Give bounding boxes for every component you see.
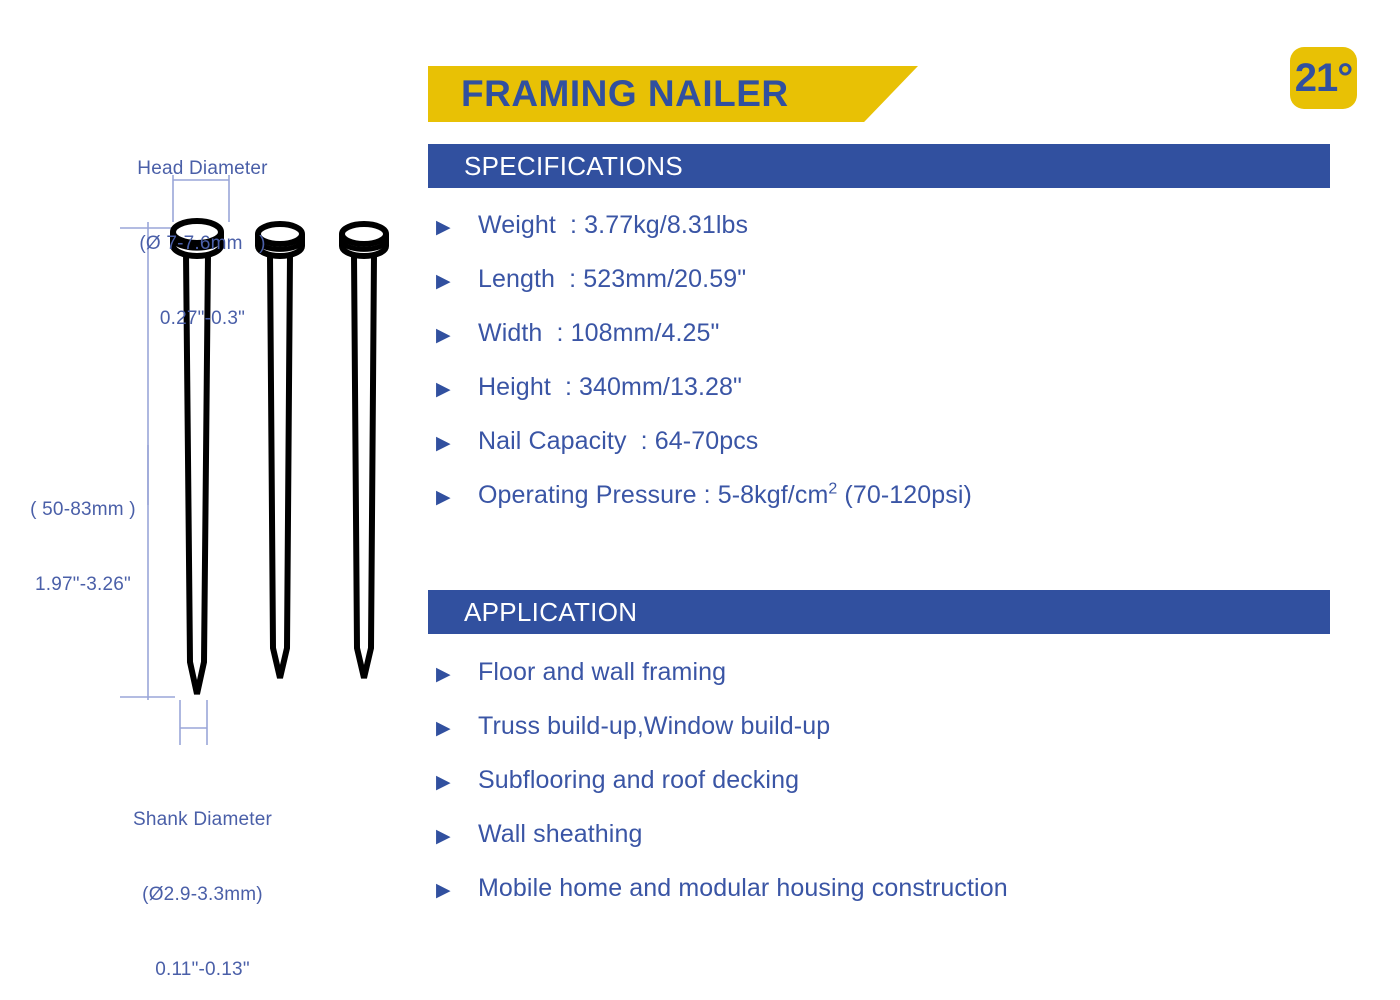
shank-diameter-line1: Shank Diameter: [95, 807, 310, 832]
head-diameter-line1: Head Diameter: [95, 156, 310, 181]
application-item: ▶ Truss build-up,Window build-up: [430, 699, 1370, 753]
application-item: ▶ Floor and wall framing: [430, 645, 1370, 699]
triangle-bullet-icon: ▶: [436, 648, 462, 702]
spec-item-label: Height : 340mm/13.28": [478, 360, 742, 414]
spec-item-label: Width : 108mm/4.25": [478, 306, 720, 360]
operating-pressure-text: Operating Pressure : 5-8kgf/cm: [478, 481, 828, 509]
spec-item-width: ▶ Width : 108mm/4.25": [430, 306, 1370, 360]
nail-dimension-diagram: Head Diameter (Ø 7-7.6mm ) 0.27"-0.3" ( …: [0, 0, 420, 1000]
application-heading: APPLICATION: [464, 597, 637, 628]
spec-item-operating-pressure: ▶ Operating Pressure : 5-8kgf/cm2 (70-12…: [430, 468, 1370, 522]
application-item: ▶ Mobile home and modular housing constr…: [430, 861, 1370, 915]
application-item: ▶ Subflooring and roof decking: [430, 753, 1370, 807]
triangle-bullet-icon: ▶: [436, 864, 462, 918]
nail-angle-badge: 21°: [1290, 47, 1357, 109]
nail-length-label: ( 50-83mm ) 1.97"-3.26": [8, 447, 158, 647]
specifications-list: ▶ Weight : 3.77kg/8.31lbs ▶ Length : 523…: [430, 198, 1370, 522]
head-diameter-line2: (Ø 7-7.6mm ): [95, 231, 310, 256]
nail-angle-value: 21°: [1295, 58, 1353, 98]
spec-item-weight: ▶ Weight : 3.77kg/8.31lbs: [430, 198, 1370, 252]
spec-item-label: Length : 523mm/20.59": [478, 252, 746, 306]
spec-item-height: ▶ Height : 340mm/13.28": [430, 360, 1370, 414]
head-diameter-label: Head Diameter (Ø 7-7.6mm ) 0.27"-0.3": [95, 106, 310, 381]
shank-diameter-label: Shank Diameter (Ø2.9-3.3mm) 0.11"-0.13": [95, 757, 310, 1000]
spec-item-length: ▶ Length : 523mm/20.59": [430, 252, 1370, 306]
application-item-label: Floor and wall framing: [478, 645, 726, 699]
triangle-bullet-icon: ▶: [436, 417, 462, 471]
nail-length-line1: ( 50-83mm ): [8, 497, 158, 522]
head-diameter-line3: 0.27"-0.3": [95, 306, 310, 331]
shank-diameter-line2: (Ø2.9-3.3mm): [95, 882, 310, 907]
shank-diameter-line3: 0.11"-0.13": [95, 957, 310, 982]
triangle-bullet-icon: ▶: [436, 201, 462, 255]
application-header-bar: APPLICATION: [428, 590, 1330, 634]
application-list: ▶ Floor and wall framing ▶ Truss build-u…: [430, 645, 1370, 915]
spec-item-label: Weight : 3.77kg/8.31lbs: [478, 198, 748, 252]
triangle-bullet-icon: ▶: [436, 309, 462, 363]
application-item-label: Truss build-up,Window build-up: [478, 699, 830, 753]
product-title-banner: FRAMING NAILER: [428, 66, 918, 122]
operating-pressure-text-after: (70-120psi): [837, 481, 972, 509]
nail-length-line2: 1.97"-3.26": [8, 572, 158, 597]
triangle-bullet-icon: ▶: [436, 363, 462, 417]
content-column: FRAMING NAILER 21° SPECIFICATIONS ▶ Weig…: [428, 0, 1400, 1000]
specifications-heading: SPECIFICATIONS: [464, 151, 683, 182]
nail-illustration-3: [342, 224, 386, 678]
application-item-label: Wall sheathing: [478, 807, 642, 861]
spec-item-label: Operating Pressure : 5-8kgf/cm2 (70-120p…: [478, 468, 972, 522]
product-spec-sheet: Head Diameter (Ø 7-7.6mm ) 0.27"-0.3" ( …: [0, 0, 1400, 1000]
spec-item-nail-capacity: ▶ Nail Capacity : 64-70pcs: [430, 414, 1370, 468]
application-item: ▶ Wall sheathing: [430, 807, 1370, 861]
application-item-label: Mobile home and modular housing construc…: [478, 861, 1008, 915]
triangle-bullet-icon: ▶: [436, 702, 462, 756]
triangle-bullet-icon: ▶: [436, 255, 462, 309]
specifications-header-bar: SPECIFICATIONS: [428, 144, 1330, 188]
triangle-bullet-icon: ▶: [436, 810, 462, 864]
page-title: FRAMING NAILER: [461, 73, 789, 115]
application-item-label: Subflooring and roof decking: [478, 753, 799, 807]
triangle-bullet-icon: ▶: [436, 756, 462, 810]
triangle-bullet-icon: ▶: [436, 471, 462, 525]
spec-item-label: Nail Capacity : 64-70pcs: [478, 414, 758, 468]
